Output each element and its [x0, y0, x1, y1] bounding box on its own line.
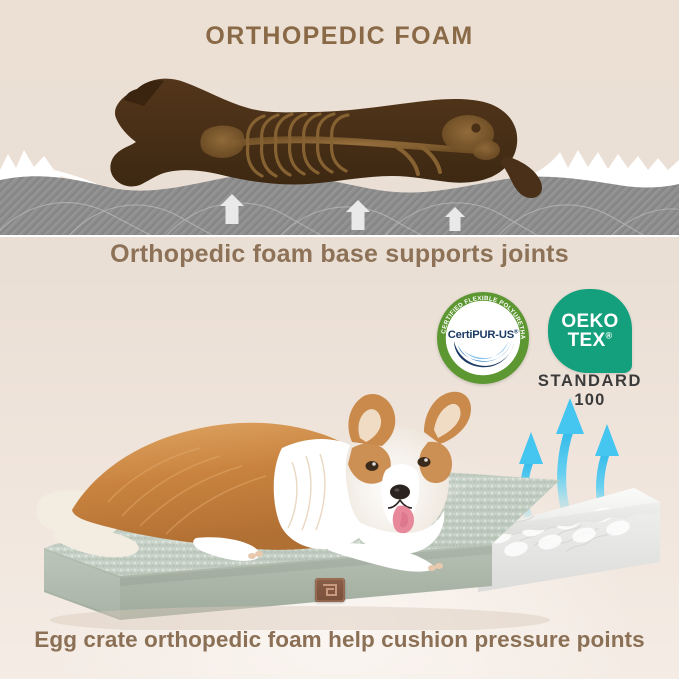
oeko-standard-line2: 100 [516, 391, 664, 410]
certipur-core: CertiPUR-US® [446, 301, 520, 375]
dog-silhouette-with-skeleton [110, 79, 542, 198]
caption-egg-crate: Egg crate orthopedic foam help cushion p… [0, 627, 679, 653]
oeko-tex-standard: STANDARD 100 [516, 372, 664, 410]
dog-eye-right [418, 457, 431, 467]
oeko-tex-shape: OEKO TEX® [548, 289, 632, 373]
foam-cross-section-illustration [0, 72, 679, 237]
oeko-tex-line1: OEKO [561, 312, 618, 331]
oeko-tex-badge: OEKO TEX® [548, 289, 632, 373]
oeko-tex-line2: TEX® [568, 331, 613, 350]
dog-photo [36, 392, 471, 572]
oeko-standard-line1: STANDARD [516, 372, 664, 391]
page-title: ORTHOPEDIC FOAM [0, 22, 679, 51]
dog-eye-left [366, 461, 379, 471]
dog-nose [390, 485, 410, 500]
certipur-label: CertiPUR-US® [446, 329, 520, 341]
base-foam [0, 173, 679, 237]
product-infographic: ORTHOPEDIC FOAM [0, 0, 679, 679]
certipur-us-badge: CONTAINS CERTIFIED FLEXIBLE POLYURETHANE… [437, 292, 529, 384]
caption-orthopedic-support: Orthopedic foam base supports joints [0, 240, 679, 269]
brand-logo-patch [315, 578, 345, 602]
airflow-arrow-2 [556, 398, 584, 512]
